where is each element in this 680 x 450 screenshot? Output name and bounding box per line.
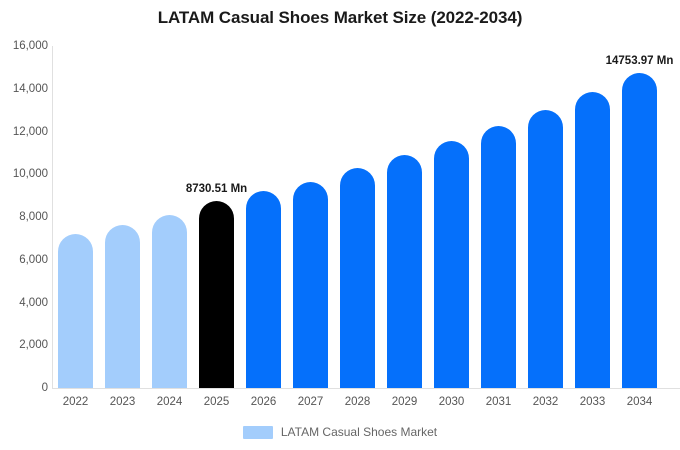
bar-2025[interactable] [199, 201, 234, 388]
bar-2030[interactable] [434, 141, 469, 388]
y-axis-tick-label: 8,000 [0, 211, 48, 223]
y-axis-tick-label: 2,000 [0, 339, 48, 351]
y-axis-tick-label: 14,000 [0, 83, 48, 95]
bar-2034[interactable] [622, 73, 657, 388]
y-axis-tick-label: 16,000 [0, 40, 48, 52]
bar-slot [199, 46, 234, 388]
bar-2028[interactable] [340, 168, 375, 388]
bar-slot [622, 46, 657, 388]
x-axis-tick-label-2024: 2024 [152, 396, 187, 408]
x-axis-tick-label-2026: 2026 [246, 396, 281, 408]
y-axis-tick-labels: 16,00014,00012,00010,0008,0006,0004,0002… [0, 0, 48, 450]
legend-swatch-latam-casual-shoes-market [243, 426, 273, 439]
bar-slot [293, 46, 328, 388]
data-label-2025: 8730.51 Mn [186, 183, 247, 195]
bar-2022[interactable] [58, 234, 93, 388]
bar-2027[interactable] [293, 182, 328, 388]
bar-slot [246, 46, 281, 388]
bar-2031[interactable] [481, 126, 516, 388]
y-axis-tick-label: 12,000 [0, 126, 48, 138]
bar-slot [528, 46, 563, 388]
x-axis-tick-label-2022: 2022 [58, 396, 93, 408]
bar-2032[interactable] [528, 110, 563, 388]
bar-slot [105, 46, 140, 388]
y-axis-tick-label: 6,000 [0, 254, 48, 266]
bar-slot [387, 46, 422, 388]
x-axis-tick-label-2025: 2025 [199, 396, 234, 408]
x-axis-line [52, 388, 680, 389]
x-axis-tick-label-2027: 2027 [293, 396, 328, 408]
x-axis-tick-label-2031: 2031 [481, 396, 516, 408]
y-axis-tick-label: 4,000 [0, 297, 48, 309]
bar-slot [340, 46, 375, 388]
bar-2029[interactable] [387, 155, 422, 388]
bar-2033[interactable] [575, 92, 610, 388]
bar-chart: LATAM Casual Shoes Market Size (2022-203… [0, 0, 680, 450]
bar-slot [434, 46, 469, 388]
bar-slot [58, 46, 93, 388]
x-axis-tick-label-2023: 2023 [105, 396, 140, 408]
y-axis-tick-label: 10,000 [0, 168, 48, 180]
legend-label-latam-casual-shoes-market: LATAM Casual Shoes Market [281, 425, 437, 439]
bar-2023[interactable] [105, 225, 140, 388]
x-axis-tick-label-2033: 2033 [575, 396, 610, 408]
bar-slot [575, 46, 610, 388]
x-axis-tick-label-2029: 2029 [387, 396, 422, 408]
bar-2024[interactable] [152, 215, 187, 388]
bar-slot [152, 46, 187, 388]
x-axis-tick-label-2030: 2030 [434, 396, 469, 408]
y-axis-tick-label: 0 [0, 382, 48, 394]
chart-legend: LATAM Casual Shoes Market [0, 425, 680, 439]
x-axis-tick-label-2034: 2034 [622, 396, 657, 408]
x-axis-tick-label-2032: 2032 [528, 396, 563, 408]
chart-title: LATAM Casual Shoes Market Size (2022-203… [0, 8, 680, 28]
bar-2026[interactable] [246, 191, 281, 388]
bar-slot [481, 46, 516, 388]
plot-area [52, 46, 680, 388]
data-label-2034: 14753.97 Mn [606, 55, 674, 67]
x-axis-tick-label-2028: 2028 [340, 396, 375, 408]
